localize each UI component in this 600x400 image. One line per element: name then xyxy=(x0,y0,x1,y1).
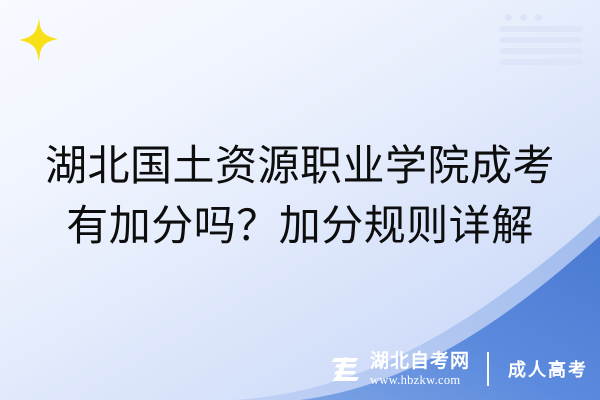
document-dots xyxy=(497,10,585,21)
document-line xyxy=(499,26,583,32)
document-lines xyxy=(497,26,585,65)
headline-line-2: 有加分吗？加分规则详解 xyxy=(0,196,600,256)
promo-banner: 湖北国土资源职业学院成考 有加分吗？加分规则详解 湖北自考网 www.hbzkw… xyxy=(0,0,600,400)
document-dot xyxy=(520,14,527,21)
document-line xyxy=(499,37,583,43)
site-logo-lockup[interactable]: 湖北自考网 www.hbzkw.com 成人高考 xyxy=(331,352,588,387)
document-dot xyxy=(535,14,542,21)
logo-site-url: www.hbzkw.com xyxy=(370,374,460,387)
logo-divider xyxy=(487,352,489,386)
logo-category-tag: 成人高考 xyxy=(508,356,588,382)
logo-site-name: 湖北自考网 xyxy=(370,352,470,371)
document-dot xyxy=(505,14,512,21)
logo-wordmark: 湖北自考网 www.hbzkw.com xyxy=(370,352,470,387)
banner-headline: 湖北国土资源职业学院成考 有加分吗？加分规则详解 xyxy=(0,136,600,256)
document-line xyxy=(499,59,583,65)
headline-line-1: 湖北国土资源职业学院成考 xyxy=(0,136,600,196)
hbzkw-z-mark-icon xyxy=(331,355,361,383)
document-line xyxy=(499,48,583,54)
document-placeholder-icon xyxy=(497,10,585,68)
sparkle-star-icon xyxy=(10,16,62,68)
